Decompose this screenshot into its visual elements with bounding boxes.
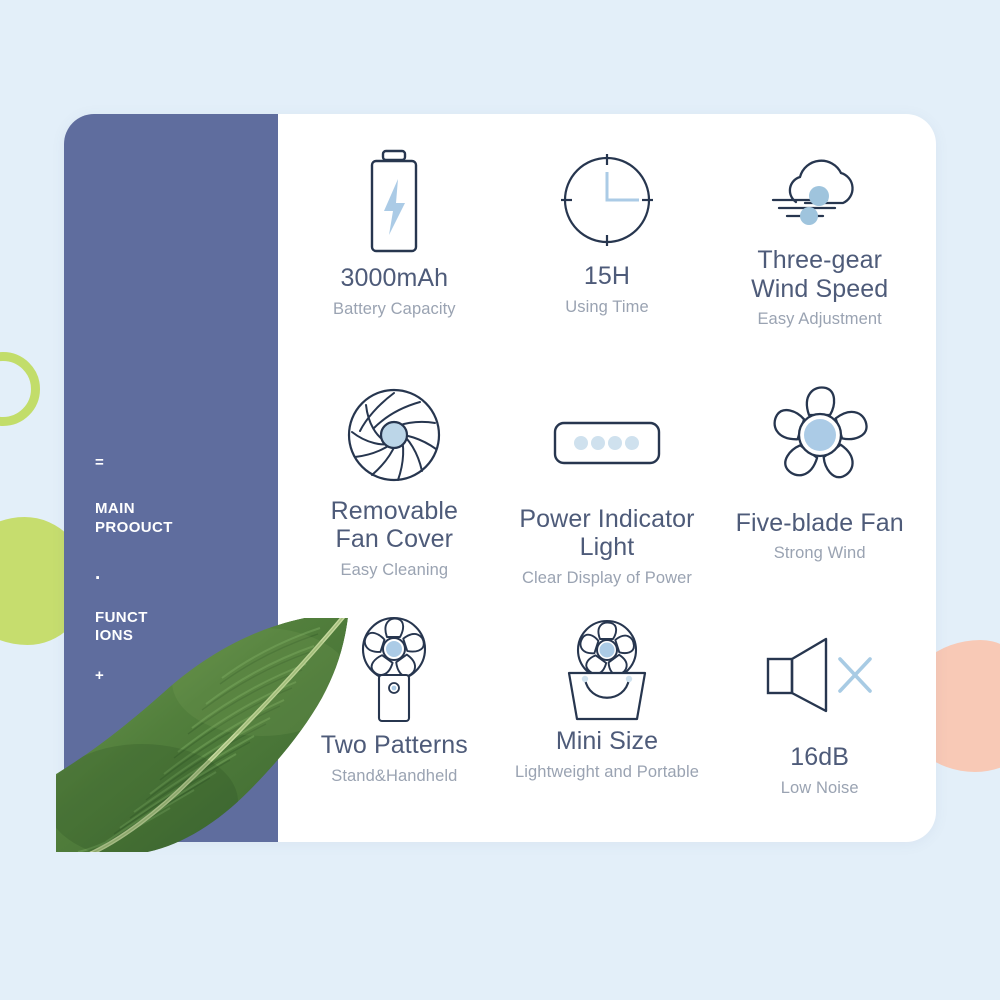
feature-title: 3000mAh [340,264,448,293]
battery-icon [358,146,430,258]
feature-subtitle: Using Time [565,298,649,318]
clock-icon [555,144,659,256]
sidebar: = MAIN PROOUCT . FUNCT IONS + [64,114,278,842]
feature-item-indicator-light: Power Indicator Light Clear Display of P… [501,363,714,598]
fan-cover-icon [342,379,446,491]
feature-title: Three-gear Wind Speed [751,246,888,303]
feature-title: Removable Fan Cover [331,497,458,554]
feature-title: 16dB [790,743,849,772]
feature-item-five-blade-fan: Five-blade Fan Strong Wind [713,363,926,598]
plus-icon[interactable]: + [95,668,245,683]
feature-subtitle: Strong Wind [774,544,866,564]
menu-icon[interactable]: = [95,455,245,470]
sidebar-label-stack: = MAIN PROOUCT . FUNCT IONS + [95,455,245,683]
feature-subtitle: Easy Cleaning [340,561,448,581]
product-feature-card: = MAIN PROOUCT . FUNCT IONS + 3000mAh Ba… [64,114,936,842]
feature-subtitle: Low Noise [781,779,859,799]
indicator-lights-icon [553,387,661,499]
feature-title: Five-blade Fan [736,509,904,538]
feature-item-two-patterns: Two Patterns Stand&Handheld [288,597,501,832]
feature-item-fan-cover: Removable Fan Cover Easy Cleaning [288,363,501,598]
feature-title: 15H [584,262,630,291]
handheld-fan-icon [357,613,431,725]
feature-item-battery: 3000mAh Battery Capacity [288,128,501,363]
feature-subtitle: Lightweight and Portable [515,763,699,783]
five-blade-fan-icon [766,379,874,491]
feature-item-low-noise: 16dB Low Noise [713,597,926,832]
muted-speaker-icon [764,619,876,731]
feature-grid: 3000mAh Battery Capacity 15H Using Time [278,114,936,842]
feature-title: Mini Size [556,727,658,756]
feature-item-mini-size: Mini Size Lightweight and Portable [501,597,714,832]
feature-title: Two Patterns [321,731,468,760]
feature-subtitle: Stand&Handheld [331,767,457,787]
sidebar-heading-main-product: MAIN PROOUCT [95,500,245,538]
wind-cloud-icon [765,138,875,250]
green-ring-icon [0,352,40,426]
fan-in-bag-icon [555,613,659,725]
feature-subtitle: Easy Adjustment [757,310,881,330]
sidebar-heading-functions: FUNCT IONS [95,609,245,647]
feature-item-wind-speed: Three-gear Wind Speed Easy Adjustment [713,128,926,363]
feature-item-using-time: 15H Using Time [501,128,714,363]
feature-subtitle: Battery Capacity [333,300,456,320]
feature-subtitle: Clear Display of Power [522,569,692,589]
feature-title: Power Indicator Light [519,505,694,562]
dot-icon: . [95,564,245,583]
